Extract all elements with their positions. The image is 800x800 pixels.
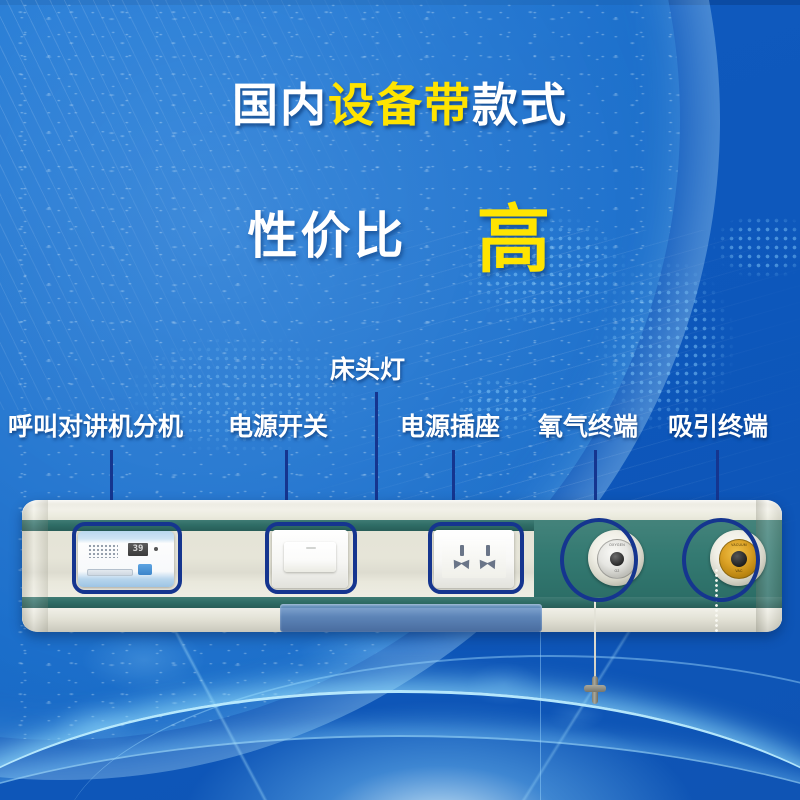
callout-label-oxygen: 氧气终端	[538, 415, 638, 440]
top-edge-bar	[0, 0, 800, 5]
glow-arc-lower	[0, 735, 800, 800]
highlight-oxygen-terminal	[560, 518, 638, 602]
subheadline: 性价比高	[0, 168, 800, 275]
oxygen-hose-cord	[594, 600, 596, 680]
glow-arc-outer	[60, 655, 800, 800]
callout-label-suction: 吸引终端	[668, 415, 768, 440]
panel-end-cap-left	[22, 500, 48, 632]
subheadline-text: 性价比	[248, 208, 407, 264]
promo-banner: 国内设备带款式 性价比高 呼叫对讲机分机 电源开关 床头灯 电源插座 氧气终端 …	[0, 0, 800, 800]
highlight-intercom	[72, 522, 182, 594]
highlight-socket	[428, 522, 524, 594]
callout-label-intercom: 呼叫对讲机分机	[8, 415, 183, 440]
callout-label-bed-lamp: 床头灯	[330, 358, 405, 383]
oxygen-probe-plug[interactable]	[584, 676, 606, 704]
subheadline-emphasis: 高	[477, 198, 553, 281]
callout-label-power-switch: 电源开关	[228, 415, 328, 440]
highlight-power-switch	[265, 522, 357, 594]
headline-part1: 国内	[232, 79, 328, 131]
highlight-suction-terminal	[682, 518, 760, 602]
headline-highlight: 设备带	[328, 79, 472, 131]
bottom-light-burst	[180, 700, 700, 800]
bed-lamp-diffuser[interactable]	[280, 604, 542, 632]
headline: 国内设备带款式	[0, 82, 800, 128]
headline-part3: 款式	[472, 79, 568, 131]
callout-label-socket: 电源插座	[400, 415, 500, 440]
glow-arc-main	[0, 690, 800, 800]
